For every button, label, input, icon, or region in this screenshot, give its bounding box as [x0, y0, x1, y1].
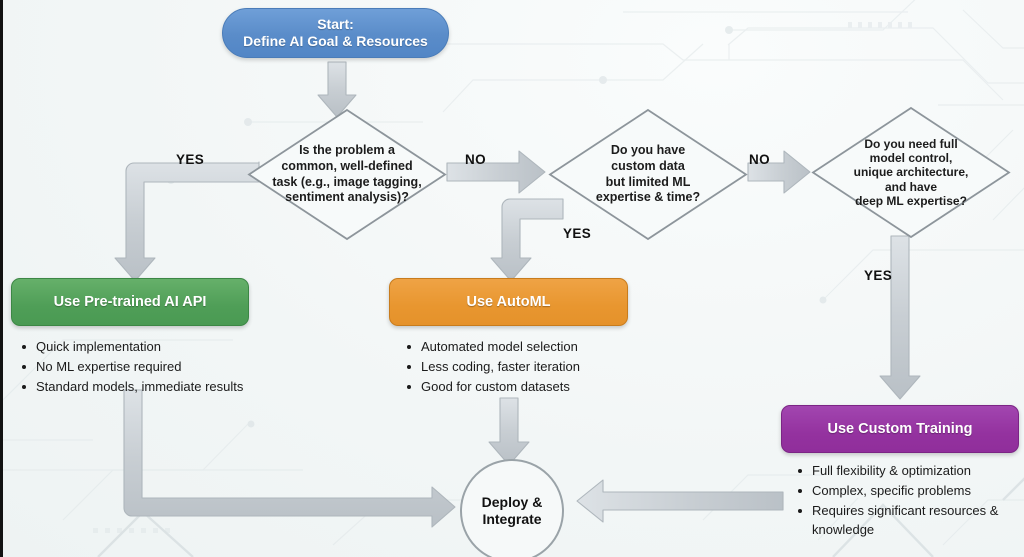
decision-2-line-3: but limited ML [562, 175, 734, 191]
arrow-d3-yes-to-custom [880, 236, 920, 399]
arrow-custom-to-deploy [577, 480, 783, 522]
outcome-bullets-automl: Automated model selection Less coding, f… [402, 337, 702, 396]
edge-label-d1-no: NO [465, 152, 486, 167]
decision-1-line-3: task (e.g., image tagging, [261, 175, 433, 191]
decision-node-custom-data[interactable]: Do you have custom data but limited ML e… [548, 108, 748, 241]
decision-node-full-control[interactable]: Do you need full model control, unique a… [811, 106, 1011, 239]
decision-3-line-5: deep ML expertise? [825, 194, 997, 208]
edge-label-d3-yes: YES [864, 268, 892, 283]
decision-1-line-1: Is the problem a [261, 143, 433, 159]
decision-3-line-3: unique architecture, [825, 165, 997, 179]
decision-2-line-2: custom data [562, 159, 734, 175]
start-line-1: Start: [243, 16, 428, 33]
terminal-line-2: Integrate [482, 511, 543, 529]
outcome-box-custom-training[interactable]: Use Custom Training [781, 405, 1019, 453]
list-item: Full flexibility & optimization [810, 461, 1018, 481]
decision-1-line-2: common, well-defined [261, 159, 433, 175]
edge-label-d1-yes: YES [176, 152, 204, 167]
decision-3-line-1: Do you need full [825, 137, 997, 151]
arrow-automl-to-deploy [489, 398, 529, 465]
decision-node-problem-type[interactable]: Is the problem a common, well-defined ta… [247, 108, 447, 241]
terminal-node-deploy-integrate[interactable]: Deploy & Integrate [460, 459, 564, 557]
decision-1-line-4: sentiment analysis)? [261, 190, 433, 206]
decision-2-line-4: expertise & time? [562, 190, 734, 206]
terminal-line-1: Deploy & [482, 494, 543, 512]
decision-3-text: Do you need full model control, unique a… [825, 137, 997, 209]
outcome-box-pretrained-api[interactable]: Use Pre-trained AI API [11, 278, 249, 326]
list-item: Less coding, faster iteration [419, 357, 702, 377]
start-line-2: Define AI Goal & Resources [243, 33, 428, 50]
decision-2-text: Do you have custom data but limited ML e… [562, 143, 734, 206]
list-item: Requires significant resources & knowled… [810, 501, 1018, 541]
edge-label-d2-no: NO [749, 152, 770, 167]
outcome-bullets-pretrained-api: Quick implementation No ML expertise req… [17, 337, 317, 396]
list-item: Standard models, immediate results [34, 377, 317, 397]
arrow-d1-yes-to-pretrained [115, 162, 259, 281]
outcome-bullets-custom-training: Full flexibility & optimization Complex,… [793, 461, 1018, 540]
list-item: Complex, specific problems [810, 481, 1018, 501]
list-item: No ML expertise required [34, 357, 317, 377]
list-item: Automated model selection [419, 337, 702, 357]
arrow-d1-no-to-d2 [447, 151, 545, 193]
outcome-box-automl[interactable]: Use AutoML [389, 278, 628, 326]
decision-3-line-4: and have [825, 180, 997, 194]
start-node[interactable]: Start: Define AI Goal & Resources [222, 8, 449, 58]
arrow-pretrained-to-deploy [124, 390, 455, 527]
list-item: Quick implementation [34, 337, 317, 357]
decision-3-line-2: model control, [825, 151, 997, 165]
decision-2-line-1: Do you have [562, 143, 734, 159]
flowchart-canvas: Start: Define AI Goal & Resources Is the… [0, 0, 1024, 557]
decision-1-text: Is the problem a common, well-defined ta… [261, 143, 433, 206]
list-item: Good for custom datasets [419, 377, 702, 397]
